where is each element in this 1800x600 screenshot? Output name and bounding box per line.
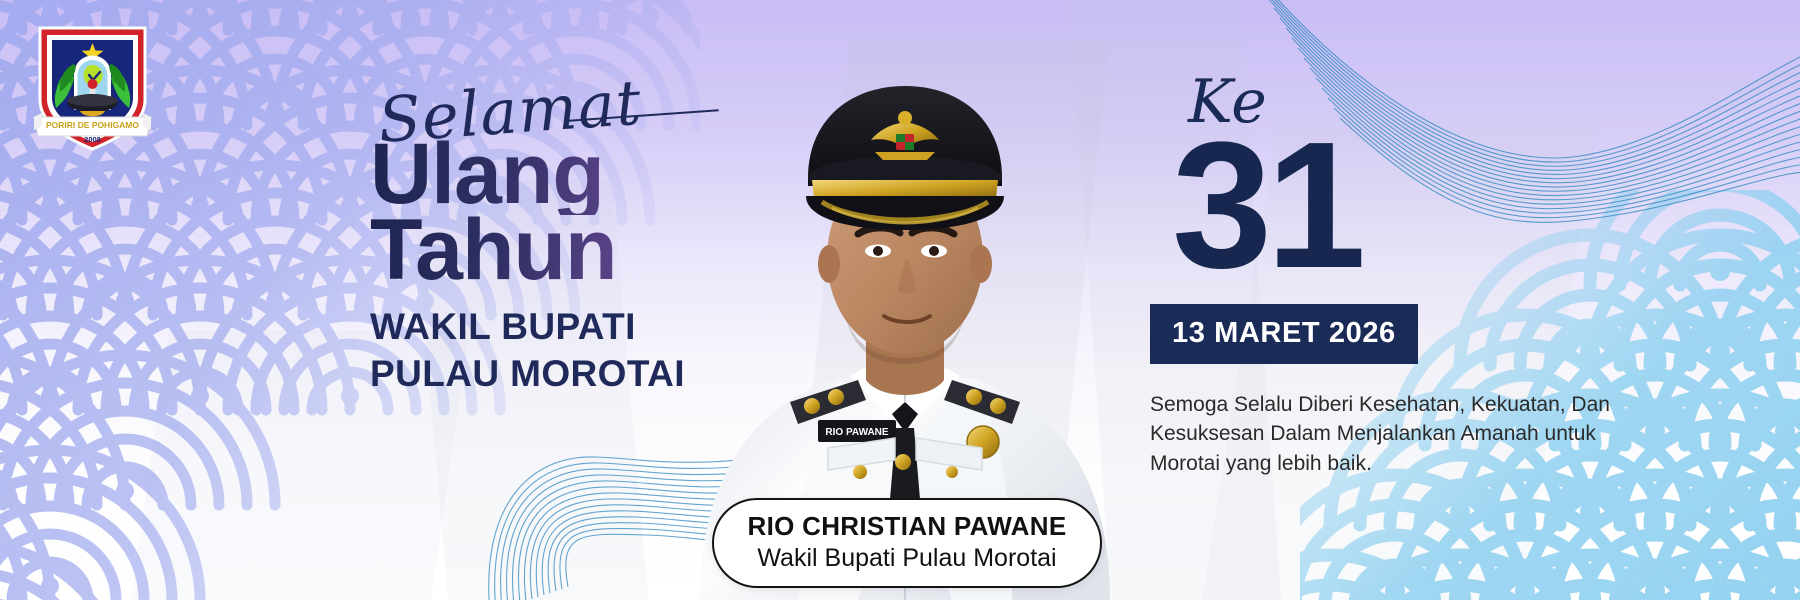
logo-year-text: 2008: [84, 135, 101, 144]
anniversary-block: Ke 31 13 MARET 2026 Semoga Selalu Diberi…: [1150, 78, 1710, 479]
wish-text: Semoga Selalu Diberi Kesehatan, Kekuatan…: [1150, 390, 1650, 479]
nameplate: RIO CHRISTIAN PAWANE Wakil Bupati Pulau …: [712, 498, 1102, 588]
nameplate-role: Wakil Bupati Pulau Morotai: [724, 543, 1090, 573]
nameplate-name: RIO CHRISTIAN PAWANE: [724, 512, 1090, 541]
anniversary-number: 31: [1172, 132, 1710, 280]
morotai-coat-of-arms-logo: PORIRI DE POHIGAMO 2008: [30, 18, 155, 153]
svg-text:RIO PAWANE: RIO PAWANE: [825, 427, 888, 438]
uniform-name-tag: RIO PAWANE: [818, 420, 896, 442]
birthday-banner: PORIRI DE POHIGAMO 2008 Selamat Ulang Ta…: [0, 0, 1800, 600]
logo-motto-text: PORIRI DE POHIGAMO: [46, 120, 139, 130]
date-badge: 13 MARET 2026: [1150, 304, 1418, 364]
